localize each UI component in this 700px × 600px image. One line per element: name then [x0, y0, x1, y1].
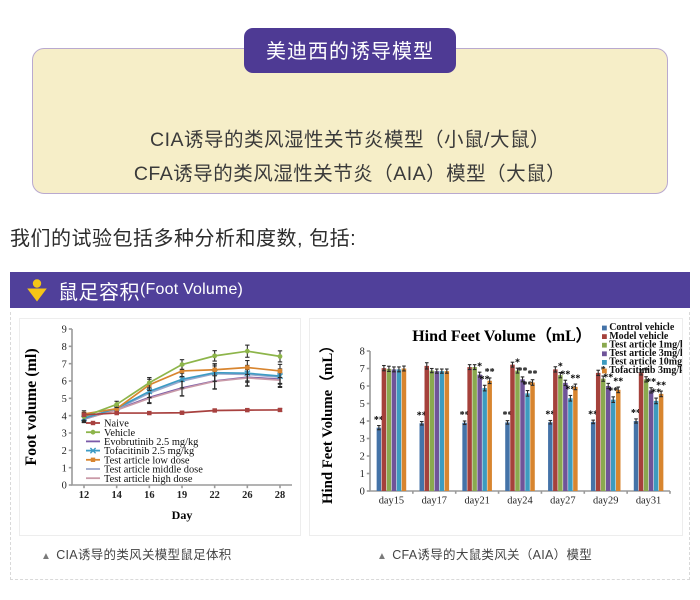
page-root: CIA诱导的类风湿性关节炎模型（小鼠/大鼠） CFA诱导的类风湿性关节炎（AIA…	[0, 0, 700, 600]
svg-text:8: 8	[360, 347, 365, 358]
svg-text:7: 7	[62, 359, 67, 370]
svg-text:**: **	[485, 367, 495, 378]
section-title-en: (Foot Volume)	[140, 281, 243, 299]
triangle-marker-left: ▲	[41, 551, 51, 562]
svg-text:**: **	[518, 366, 528, 377]
svg-text:Foot volume (ml): Foot volume (ml)	[23, 348, 40, 465]
svg-text:7: 7	[360, 364, 365, 375]
charts-container: 012345678912141619222628Foot volume (ml)…	[10, 312, 690, 580]
svg-text:5: 5	[62, 394, 67, 405]
svg-text:0: 0	[62, 481, 67, 492]
section-title-cn: 鼠足容积	[58, 276, 140, 305]
bar-chart-svg: 012345678**day15**day17*******day21*****…	[310, 319, 682, 535]
caption-left: ▲CIA诱导的类风关模型鼠足体积	[41, 544, 232, 563]
svg-text:14: 14	[111, 490, 121, 501]
bar-chart-hind-feet-volume: 012345678**day15**day17*******day21*****…	[309, 318, 683, 536]
svg-text:26: 26	[242, 490, 252, 501]
svg-text:day24: day24	[507, 495, 533, 506]
svg-text:**: **	[570, 373, 580, 384]
svg-text:6: 6	[360, 382, 365, 393]
caption-right-text: CFA诱导的大鼠类风关（AIA）模型	[392, 548, 592, 562]
svg-text:0: 0	[360, 487, 365, 498]
svg-text:Hind Feet Volume（mL）: Hind Feet Volume（mL）	[318, 338, 336, 504]
caption-left-text: CIA诱导的类风关模型鼠足体积	[56, 548, 231, 562]
line-chart-svg: 012345678912141619222628Foot volume (ml)…	[20, 319, 300, 535]
svg-text:5: 5	[360, 399, 365, 410]
line-chart-foot-volume: 012345678912141619222628Foot volume (ml)…	[19, 318, 301, 536]
svg-text:day31: day31	[636, 495, 661, 506]
svg-text:6: 6	[62, 377, 67, 388]
svg-text:3: 3	[360, 434, 365, 445]
triangle-marker-right: ▲	[377, 551, 387, 562]
svg-text:4: 4	[62, 411, 68, 422]
svg-text:*: *	[477, 361, 482, 372]
svg-text:1: 1	[62, 463, 67, 474]
svg-text:day15: day15	[379, 495, 404, 506]
svg-text:22: 22	[209, 490, 219, 501]
section-header-foot-volume: 鼠足容积 (Foot Volume)	[10, 272, 690, 308]
svg-text:19: 19	[177, 490, 187, 501]
intro-text: 我们的试验包括多种分析和度数, 包括:	[10, 222, 356, 251]
svg-text:Hind Feet Volume（mL）: Hind Feet Volume（mL）	[412, 327, 592, 345]
svg-text:day27: day27	[550, 495, 575, 506]
svg-text:2: 2	[360, 452, 365, 463]
svg-text:28: 28	[275, 490, 285, 501]
svg-text:Day: Day	[172, 508, 193, 522]
svg-text:4: 4	[360, 417, 366, 428]
svg-text:16: 16	[144, 490, 154, 501]
caption-right: ▲CFA诱导的大鼠类风关（AIA）模型	[377, 544, 592, 563]
svg-text:1: 1	[360, 469, 365, 480]
model-line-2: CFA诱导的类风湿性关节炎（AIA）模型（大鼠）	[33, 157, 667, 191]
svg-text:**: **	[560, 369, 570, 380]
svg-text:day21: day21	[464, 495, 489, 506]
svg-text:**: **	[528, 369, 538, 380]
svg-text:day29: day29	[593, 495, 618, 506]
model-line-1: CIA诱导的类风湿性关节炎模型（小鼠/大鼠）	[33, 123, 667, 157]
model-list: CIA诱导的类风湿性关节炎模型（小鼠/大鼠） CFA诱导的类风湿性关节炎（AIA…	[33, 123, 667, 191]
svg-text:8: 8	[62, 342, 67, 353]
svg-text:Tofacitinib 3mg/kg: Tofacitinib 3mg/kg	[609, 365, 682, 376]
svg-text:day17: day17	[422, 495, 447, 506]
svg-text:**: **	[613, 376, 623, 387]
person-icon	[24, 277, 50, 303]
svg-text:Test article high dose: Test article high dose	[104, 474, 193, 485]
svg-text:9: 9	[62, 325, 67, 336]
svg-text:2: 2	[62, 446, 67, 457]
svg-text:**: **	[656, 380, 666, 391]
svg-text:12: 12	[79, 490, 89, 501]
card-title-badge: 美迪西的诱导模型	[244, 28, 456, 73]
svg-text:3: 3	[62, 429, 67, 440]
